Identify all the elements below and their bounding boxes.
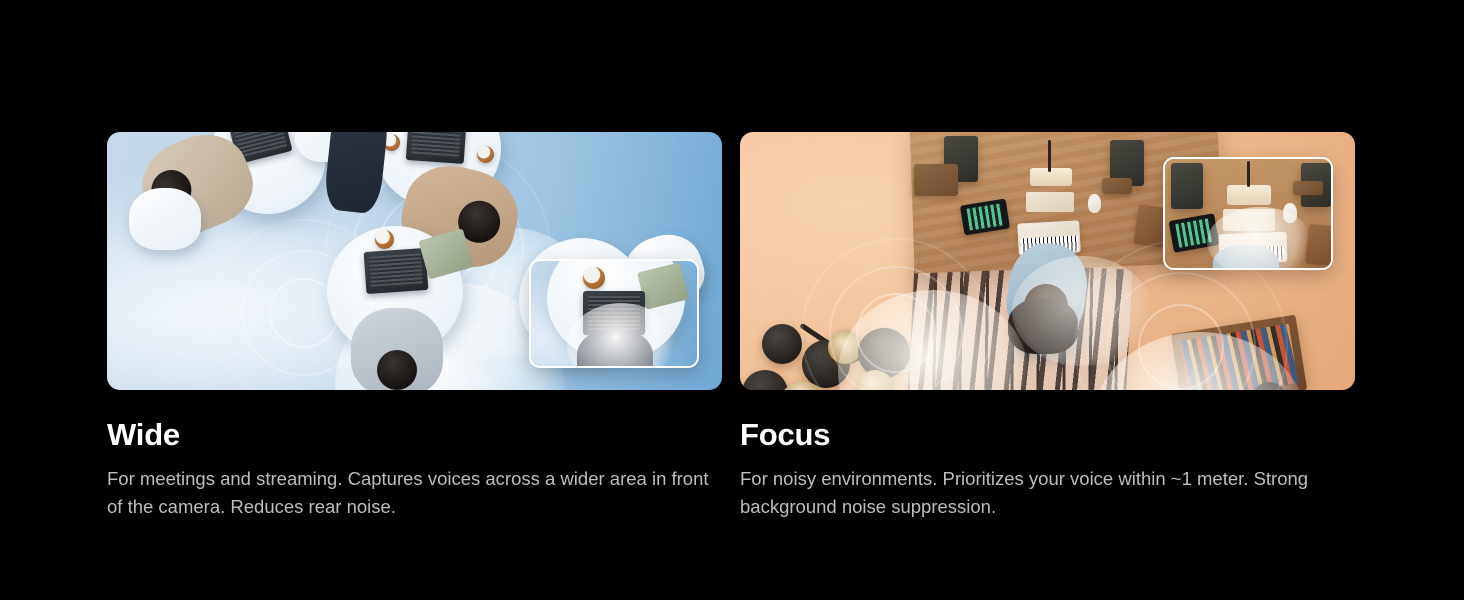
drum-tom <box>762 324 802 364</box>
card-title-focus: Focus <box>740 418 1355 452</box>
synth-module <box>1102 178 1132 194</box>
mic-mode-card-focus[interactable]: Focus For noisy environments. Prioritize… <box>740 132 1355 532</box>
focus-inset-panel <box>1163 157 1333 270</box>
office-chair <box>129 188 201 250</box>
focus-inset-image <box>1165 159 1331 268</box>
computer-mouse <box>1088 194 1101 213</box>
page-root: Wide For meetings and streaming. Capture… <box>0 0 1464 600</box>
card-description-focus: For noisy environments. Prioritizes your… <box>740 465 1352 521</box>
mic-mode-card-grid: Wide For meetings and streaming. Capture… <box>107 132 1355 532</box>
sound-glow-blob <box>1207 207 1313 270</box>
person-seated <box>351 308 443 390</box>
coffee-cup <box>583 267 605 289</box>
drum-tom <box>742 370 788 390</box>
card-title-wide: Wide <box>107 418 722 452</box>
wide-inset-image <box>531 261 697 366</box>
sound-wave-rings <box>895 332 896 333</box>
synth-module <box>1293 181 1323 195</box>
lamp-arm <box>1247 161 1250 187</box>
sound-wave-rings <box>1180 346 1181 347</box>
wide-scene-image <box>107 132 722 390</box>
keyboard-tray <box>1026 192 1074 212</box>
coffee-cup <box>375 230 394 249</box>
amp-box <box>914 164 958 196</box>
wide-inset-panel <box>529 259 699 368</box>
focus-scene-image <box>740 132 1355 390</box>
desk-lamp <box>1227 185 1271 205</box>
laptop <box>364 248 429 294</box>
desk-lamp <box>1030 168 1072 186</box>
coffee-cup <box>477 146 494 163</box>
mic-mode-card-wide[interactable]: Wide For meetings and streaming. Capture… <box>107 132 722 532</box>
card-description-wide: For meetings and streaming. Captures voi… <box>107 465 719 521</box>
studio-monitor-left <box>1171 163 1203 209</box>
lamp-arm <box>1048 140 1051 172</box>
sound-wave-rings <box>303 312 304 313</box>
